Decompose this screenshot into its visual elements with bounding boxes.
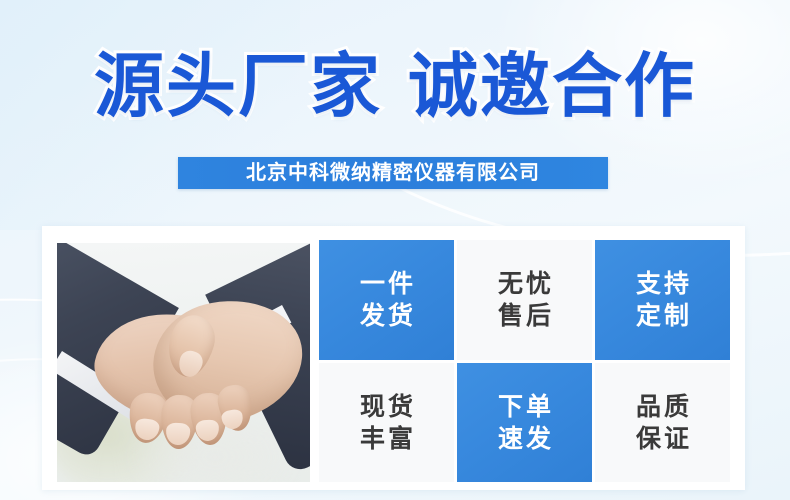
- feature-tile-one-piece-shipping[interactable]: 一件 发货: [319, 240, 454, 360]
- feature-tile-line-2: 发货: [357, 300, 416, 332]
- headline-phrase-1: 源头厂家: [94, 47, 382, 125]
- feature-tile-line-2: 速发: [495, 423, 554, 455]
- feature-tile-grid: 一件 发货 无忧 售后 支持 定制 现货 丰富 下单 速发 品质 保证: [319, 240, 730, 482]
- company-name-text: 北京中科微纳精密仪器有限公司: [178, 157, 608, 189]
- feature-tile-line-1: 一件: [357, 268, 416, 300]
- feature-tile-line-2: 保证: [633, 423, 692, 455]
- handshake-photo: [57, 243, 310, 482]
- feature-tile-line-1: 支持: [633, 268, 692, 300]
- feature-tile-line-1: 下单: [495, 391, 554, 423]
- company-name-bar: 北京中科微纳精密仪器有限公司: [178, 157, 608, 189]
- feature-tile-line-2: 定制: [633, 300, 692, 332]
- feature-tile-ample-stock[interactable]: 现货 丰富: [319, 363, 454, 482]
- promo-banner: 源头厂家诚邀合作 北京中科微纳精密仪器有限公司 一件 发货: [0, 0, 790, 500]
- feature-tile-line-2: 丰富: [357, 423, 416, 455]
- feature-tile-fast-dispatch[interactable]: 下单 速发: [457, 363, 592, 482]
- feature-tile-line-1: 现货: [357, 391, 416, 423]
- feature-tile-worry-free-service[interactable]: 无忧 售后: [457, 240, 592, 360]
- headline-phrase-2: 诚邀合作: [408, 47, 696, 125]
- feature-tile-line-1: 品质: [633, 391, 692, 423]
- feature-tile-custom-support[interactable]: 支持 定制: [595, 240, 730, 360]
- feature-tile-line-1: 无忧: [495, 268, 554, 300]
- headline: 源头厂家诚邀合作: [0, 44, 790, 128]
- feature-tile-line-2: 售后: [495, 300, 554, 332]
- feature-tile-quality-guarantee[interactable]: 品质 保证: [595, 363, 730, 482]
